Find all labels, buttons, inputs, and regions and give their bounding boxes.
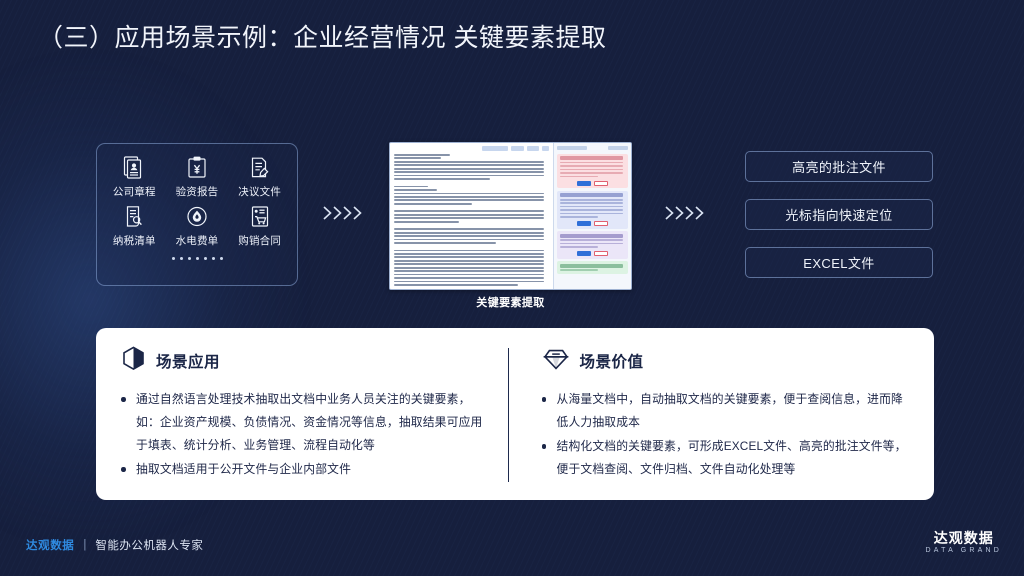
document-text-line [394, 196, 544, 198]
doc-type-purchase-contract[interactable]: 购销合同 [228, 204, 291, 248]
scenario-value-header: 场景价值 [539, 346, 913, 376]
screenshot-document-text [394, 154, 549, 286]
annotation-confirm-button[interactable] [577, 181, 591, 186]
document-text-line [394, 239, 544, 241]
doc-type-company-charter[interactable]: 公司章程 [103, 155, 166, 199]
document-text-line [394, 171, 544, 173]
annotation-card-text-line [560, 162, 623, 164]
scenario-application-bullets: 通过自然语言处理技术抽取出文档中业务人员关注的关键要素，如：企业资产规模、负债情… [118, 388, 492, 481]
annotation-card-green[interactable] [557, 261, 628, 273]
doc-type-label: 纳税清单 [113, 233, 156, 248]
annotation-card-text-line [560, 165, 623, 167]
toolbar-button [527, 146, 539, 151]
screenshot-caption: 关键要素提取 [389, 294, 632, 310]
document-text-gap [394, 224, 549, 227]
annotation-card-text-line [560, 239, 623, 241]
document-text-line [394, 186, 428, 188]
footer-left: 达观数据 | 智能办公机器人专家 [26, 537, 203, 553]
annotation-card-text-line [560, 269, 598, 271]
annotation-card-purple[interactable] [557, 231, 628, 259]
clipboard-yuan-icon [185, 155, 209, 181]
hexagon-cube-icon [122, 346, 145, 376]
list-item: 结构化文档的关键要素，可形成EXCEL文件、高亮的批注文件等，便于文档查阅、文件… [539, 435, 913, 481]
annotation-reject-button[interactable] [594, 181, 608, 186]
annotation-card-header [560, 234, 623, 238]
annotation-card-actions [560, 251, 626, 256]
document-text-line [394, 260, 544, 262]
annotation-card-text-line [560, 216, 598, 218]
doc-type-utility-bill[interactable]: 水电费单 [166, 204, 229, 248]
document-text-line [394, 270, 544, 272]
screenshot-annotation-pane [553, 143, 631, 289]
document-text-line [394, 199, 544, 201]
toolbar-button [482, 146, 508, 151]
document-text-line [394, 178, 490, 180]
footer-logo: 达观数据 DATA GRAND [926, 530, 1002, 554]
scenario-application-header: 场景应用 [118, 346, 492, 376]
document-pen-icon [248, 155, 272, 181]
annotation-card-text-line [560, 169, 623, 171]
document-text-line [394, 168, 544, 170]
document-text-line [394, 228, 544, 230]
list-item: 通过自然语言处理技术抽取出文档中业务人员关注的关键要素，如：企业资产规模、负债情… [118, 388, 492, 457]
document-text-line [394, 232, 544, 234]
annotation-card-header [560, 156, 623, 160]
water-drop-flame-icon [185, 204, 209, 230]
document-types-card: 公司章程 验资报告 [96, 143, 298, 286]
doc-type-label: 水电费单 [176, 233, 219, 248]
scenario-value-column: 场景价值 从海量文档中，自动抽取文档的关键要素，便于查阅信息，进而降低人力抽取成… [509, 346, 913, 488]
document-text-line [394, 154, 450, 156]
document-text-line [394, 214, 544, 216]
document-text-line [394, 161, 544, 163]
annotation-confirm-button[interactable] [577, 251, 591, 256]
document-text-gap [394, 182, 549, 185]
annotation-card-text-line [560, 209, 623, 211]
document-text-line [394, 281, 544, 283]
document-text-line [394, 242, 496, 244]
product-screenshot[interactable]: 关键要素提取 [389, 142, 632, 290]
footer-brand: 达观数据 [26, 537, 74, 553]
output-pill-highlighted-annotation-file[interactable]: 高亮的批注文件 [745, 151, 933, 182]
annotation-confirm-button[interactable] [577, 221, 591, 226]
document-text-line [394, 253, 544, 255]
more-items-dots [97, 257, 297, 260]
document-text-gap [394, 245, 549, 248]
diamond-gem-icon [543, 346, 569, 376]
annotation-card-pink[interactable] [557, 154, 628, 189]
annotation-card-header [560, 264, 623, 268]
annotation-reject-button[interactable] [594, 221, 608, 226]
slide-canvas: （三）应用场景示例：企业经营情况 关键要素提取 公司章程 [0, 0, 1024, 576]
document-text-line [394, 267, 544, 269]
output-pill-list: 高亮的批注文件 光标指向快速定位 EXCEL文件 [745, 151, 933, 278]
annotation-card-text-line [560, 243, 623, 245]
document-text-line [394, 189, 437, 191]
page-title: （三）应用场景示例：企业经营情况 关键要素提取 [38, 22, 606, 55]
document-text-line [394, 256, 544, 258]
doc-type-resolution[interactable]: 决议文件 [228, 155, 291, 199]
document-text-line [394, 263, 544, 265]
annotation-card-text-line [560, 202, 623, 204]
document-cart-icon [248, 204, 272, 230]
flow-arrow-left [322, 203, 368, 223]
screenshot-toolbar [394, 146, 549, 152]
document-text-line [394, 203, 472, 205]
annotation-card-actions [560, 221, 626, 226]
output-pill-excel-file[interactable]: EXCEL文件 [745, 247, 933, 278]
doc-type-label: 验资报告 [176, 184, 219, 199]
toolbar-button [511, 146, 524, 151]
document-text-line [394, 235, 544, 237]
document-text-line [394, 250, 544, 252]
document-text-line [394, 175, 544, 177]
annotation-card-text-line [560, 206, 623, 208]
document-text-line [394, 277, 544, 279]
document-text-line [394, 221, 459, 223]
document-text-line [394, 210, 544, 212]
list-item: 抽取文档适用于公开文件与企业内部文件 [118, 458, 492, 481]
scenario-application-title: 场景应用 [156, 350, 220, 372]
scenario-value-title: 场景价值 [580, 350, 644, 372]
annotation-card-text-line [560, 246, 598, 248]
doc-type-capital-verification[interactable]: 验资报告 [166, 155, 229, 199]
scenario-application-column: 场景应用 通过自然语言处理技术抽取出文档中业务人员关注的关键要素，如：企业资产规… [118, 346, 508, 488]
annotation-card-text-line [560, 176, 598, 178]
document-types-grid: 公司章程 验资报告 [97, 144, 297, 248]
flow-arrow-right [664, 203, 710, 223]
document-text-gap [394, 206, 549, 209]
doc-type-tax-list[interactable]: 纳税清单 [103, 204, 166, 248]
annotation-card-text-line [560, 199, 623, 201]
footer-separator: | [83, 539, 86, 551]
annotation-card-header [560, 193, 623, 197]
footer-tagline: 智能办公机器人专家 [95, 537, 203, 553]
document-text-line [394, 164, 544, 166]
id-document-icon [122, 155, 146, 181]
annotation-card-actions [560, 181, 626, 186]
annotation-card-list [557, 154, 628, 274]
toolbar-button [542, 146, 549, 151]
annotation-card-text-line [560, 213, 623, 215]
screenshot-document-pane [390, 143, 553, 289]
doc-type-label: 购销合同 [238, 233, 281, 248]
info-panel: 场景应用 通过自然语言处理技术抽取出文档中业务人员关注的关键要素，如：企业资产规… [96, 328, 934, 500]
document-text-line [394, 157, 441, 159]
scenario-value-bullets: 从海量文档中，自动抽取文档的关键要素，便于查阅信息，进而降低人力抽取成本 结构化… [539, 388, 913, 481]
document-magnifier-icon [122, 204, 146, 230]
footer-logo-cn: 达观数据 [926, 530, 1002, 546]
annotation-card-text-line [560, 172, 623, 174]
document-text-line [394, 193, 544, 195]
doc-type-label: 决议文件 [238, 184, 281, 199]
doc-type-label: 公司章程 [113, 184, 156, 199]
annotation-pane-header [557, 146, 628, 151]
screenshot-frame [389, 142, 632, 290]
annotation-card-blue[interactable] [557, 191, 628, 229]
document-text-line [394, 217, 544, 219]
document-text-line [394, 274, 544, 276]
list-item: 从海量文档中，自动抽取文档的关键要素，便于查阅信息，进而降低人力抽取成本 [539, 388, 913, 434]
footer-logo-en: DATA GRAND [926, 547, 1002, 554]
output-pill-cursor-quick-locate[interactable]: 光标指向快速定位 [745, 199, 933, 230]
annotation-reject-button[interactable] [594, 251, 608, 256]
document-text-line [394, 284, 518, 286]
